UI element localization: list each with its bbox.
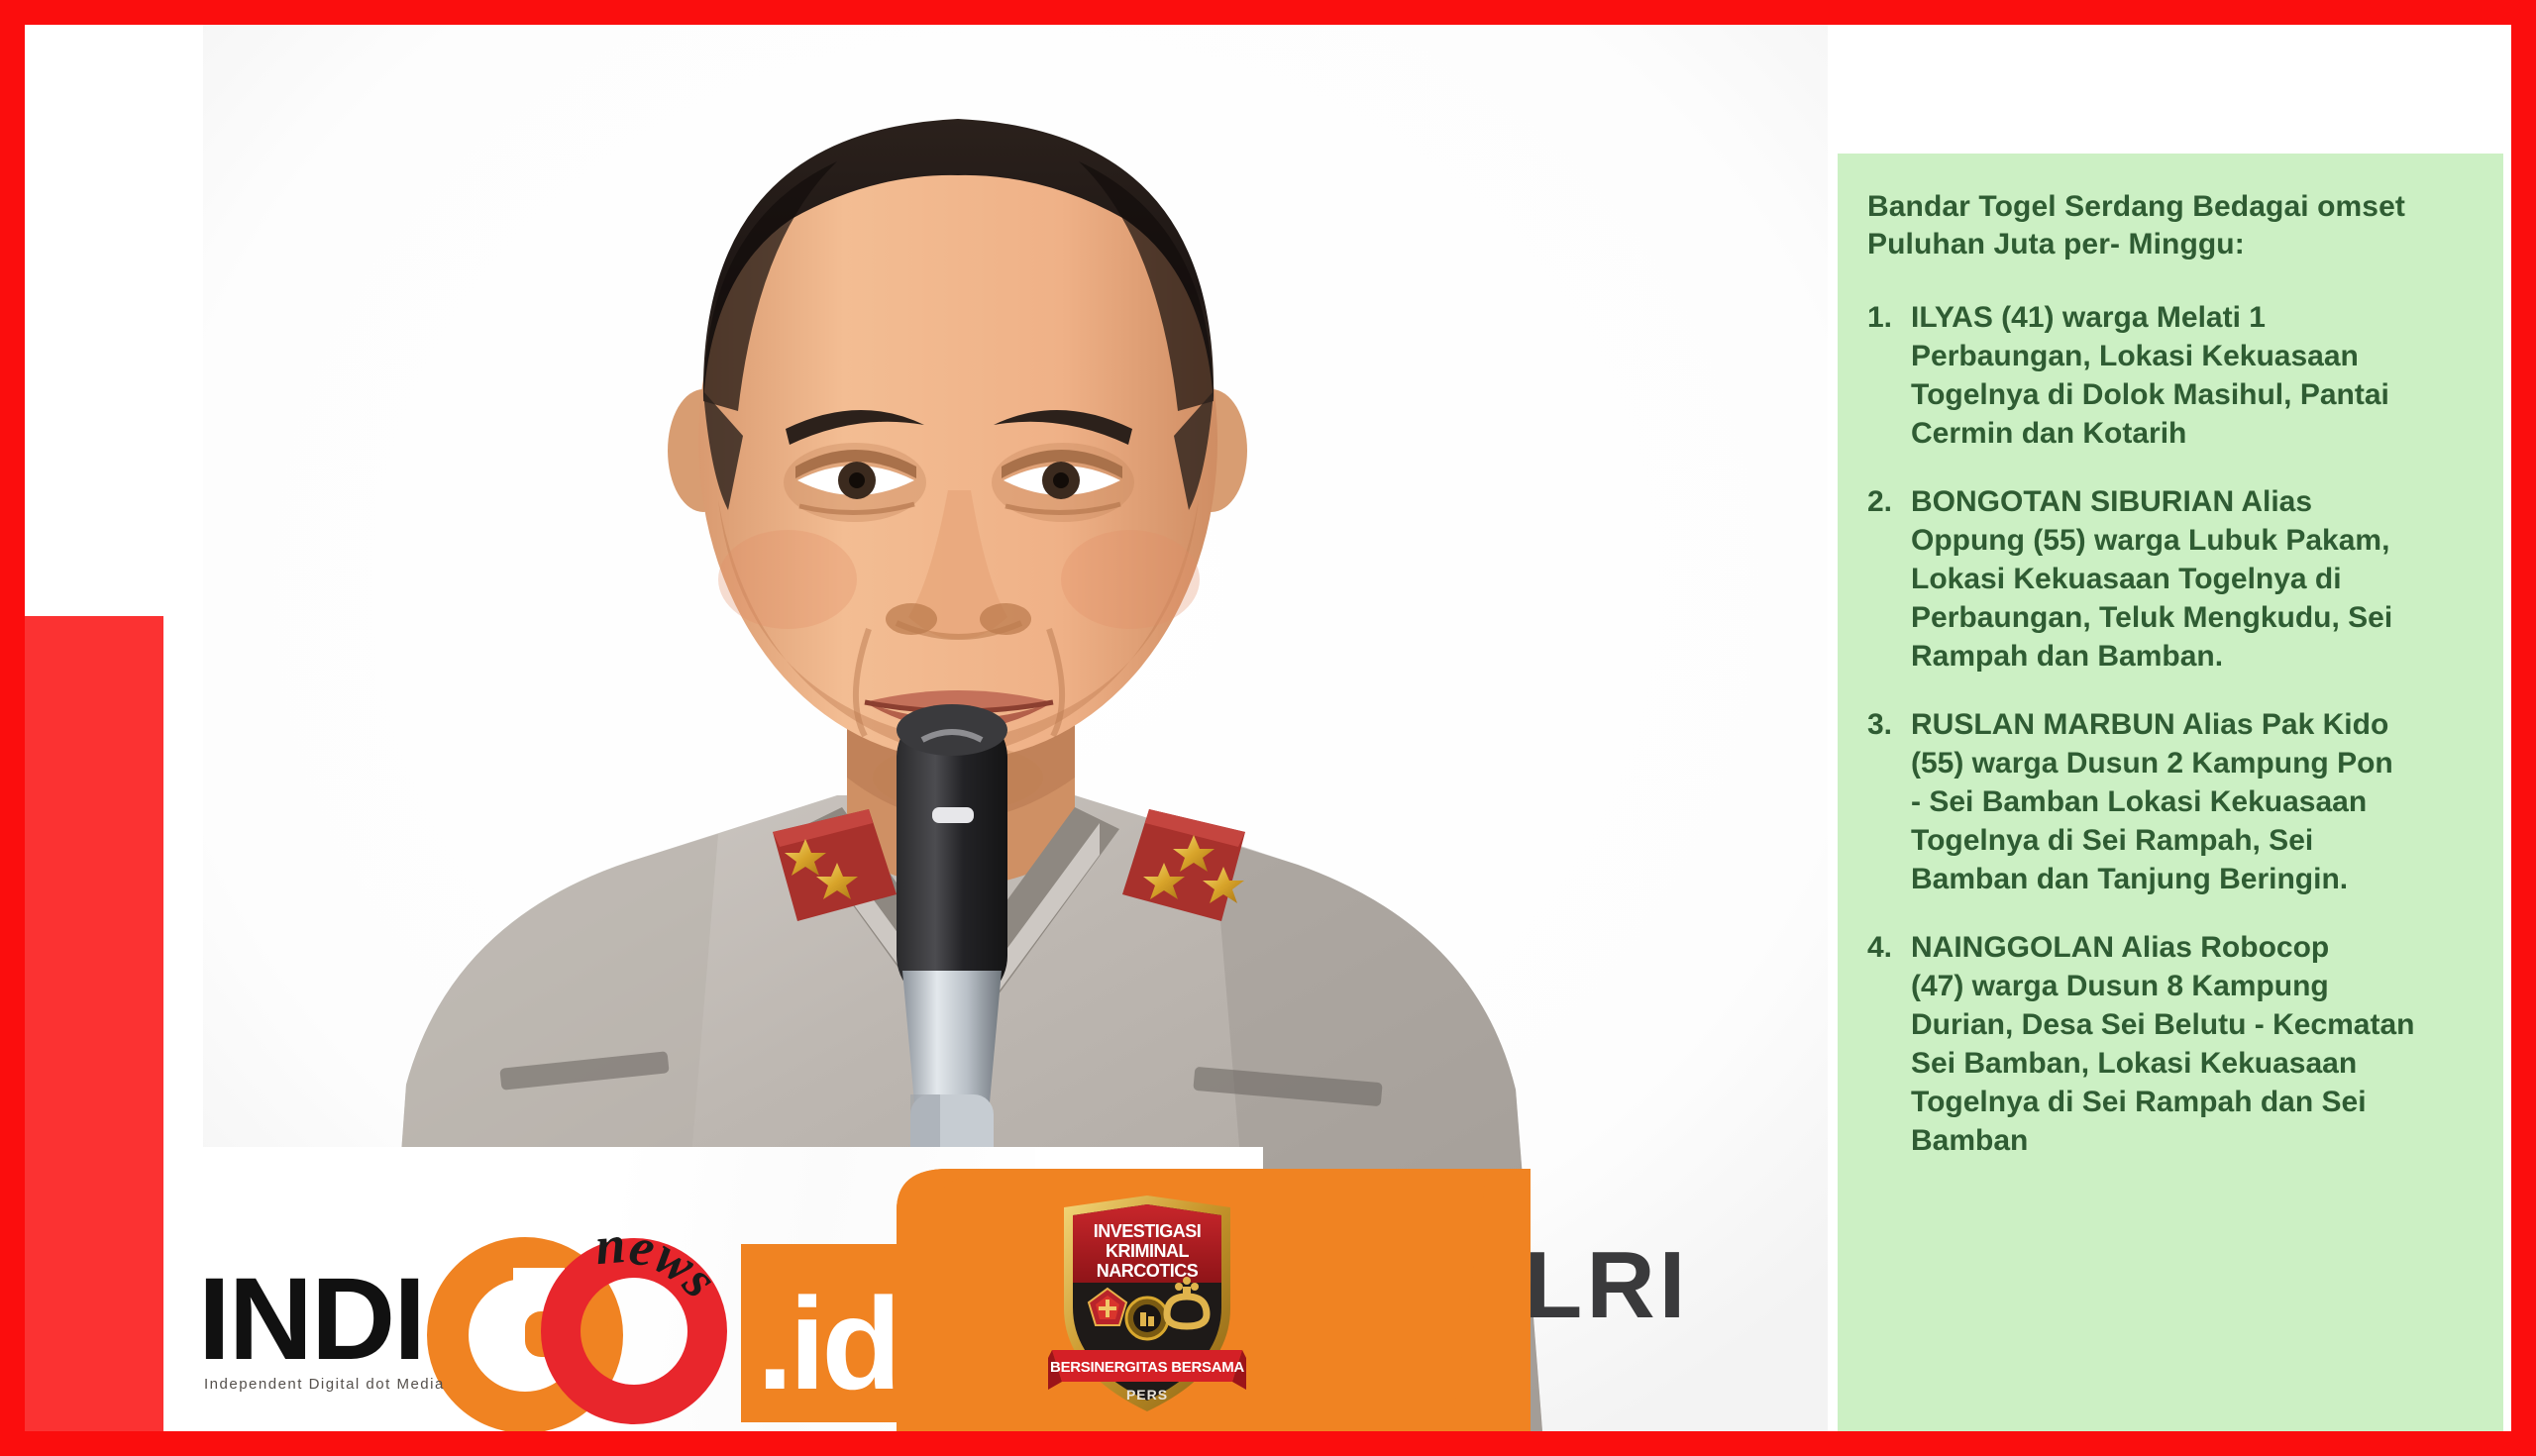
svg-text:.id: .id (757, 1271, 898, 1416)
note-heading: Bandar Togel Serdang Bedagai omset Puluh… (1867, 188, 2478, 264)
red-accent-block (25, 616, 163, 1431)
list-item-number: 2. (1867, 482, 1911, 676)
list-item-number: 3. (1867, 705, 1911, 898)
emblem-ribbon-text: BERSINERGITAS BERSAMA (1050, 1359, 1244, 1376)
emblem-footer-text: PERS (1126, 1387, 1168, 1403)
red-frame-border: OLRI (0, 0, 2536, 1456)
list-item: 2. BONGOTAN SIBURIAN Alias Oppung (55) w… (1867, 482, 2478, 676)
logo-indi-text: INDI (198, 1254, 424, 1385)
list-item-text: NAINGGOLAN Alias Robocop (47) warga Dusu… (1911, 928, 2478, 1160)
list-item-number: 4. (1867, 928, 1911, 1160)
emblem-line2: KRIMINAL (1106, 1241, 1189, 1261)
logo-tagline: Independent Digital dot Media (204, 1376, 445, 1393)
list-item-number: 1. (1867, 298, 1911, 453)
note-heading-line2: Puluhan Juta per- Minggu: (1867, 226, 2478, 263)
image-canvas: OLRI (25, 25, 2511, 1431)
list-item: 1. ILYAS (41) warga Melati 1 Perbaungan,… (1867, 298, 2478, 453)
list-item-text: RUSLAN MARBUN Alias Pak Kido (55) warga … (1911, 705, 2478, 898)
note-heading-line1: Bandar Togel Serdang Bedagai omset (1867, 188, 2478, 226)
indigo-news-logo[interactable]: INDI news (198, 1208, 981, 1431)
suspect-list: 1. ILYAS (41) warga Melati 1 Perbaungan,… (1867, 298, 2478, 1160)
investigasi-kriminal-narcotics-emblem: INVESTIGASI KRIMINAL NARCOTICS (1048, 1192, 1246, 1419)
list-item-text: BONGOTAN SIBURIAN Alias Oppung (55) warg… (1911, 482, 2478, 676)
list-item: 4. NAINGGOLAN Alias Robocop (47) warga D… (1867, 928, 2478, 1160)
list-item-text: ILYAS (41) warga Melati 1 Perbaungan, Lo… (1911, 298, 2478, 453)
green-note-panel: Bandar Togel Serdang Bedagai omset Puluh… (1838, 154, 2503, 1431)
emblem-line1: INVESTIGASI (1094, 1221, 1202, 1241)
list-item: 3. RUSLAN MARBUN Alias Pak Kido (55) war… (1867, 705, 2478, 898)
emblem-line3: NARCOTICS (1097, 1261, 1199, 1281)
